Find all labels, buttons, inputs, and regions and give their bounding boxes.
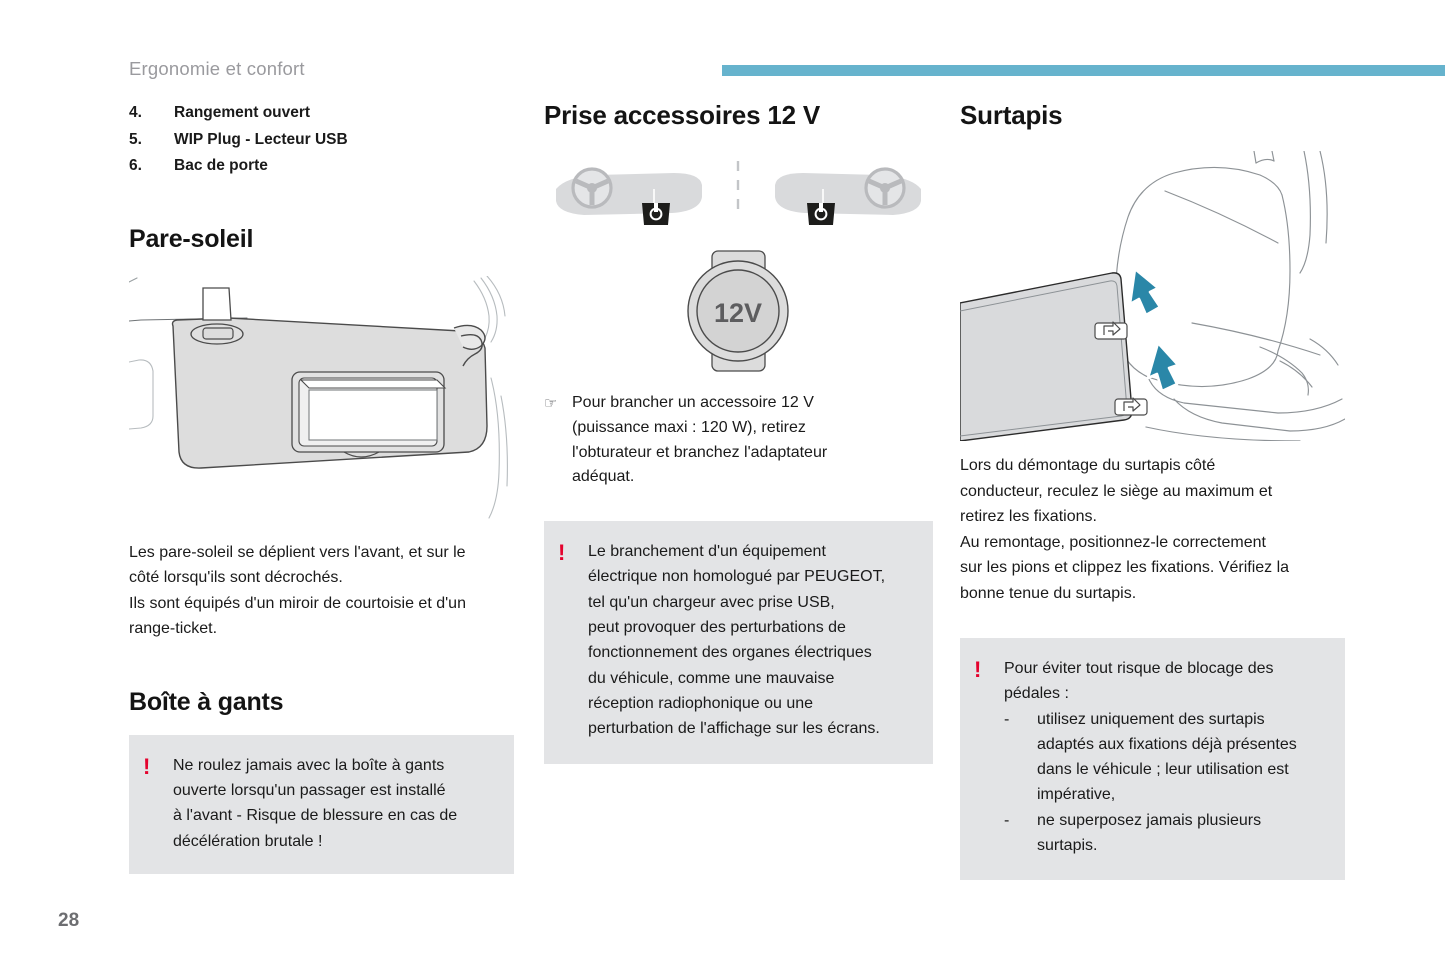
breadcrumb-chapter-title: Ergonomie et confort [129, 58, 305, 80]
warning-line: décélération brutale ! [173, 829, 457, 854]
sun-visor-body-text: Les pare-soleil se déplient vers l'avant… [129, 540, 514, 642]
warning-text: Pour éviter tout risque de blocage des p… [1004, 656, 1297, 858]
list-item: 6. Bac de porte [129, 153, 514, 180]
instruction-line: (puissance maxi : 120 W), retirez [572, 416, 827, 441]
body-line: conducteur, reculez le siège au maximum … [960, 479, 1345, 505]
mirror-glass [309, 390, 437, 440]
list-item-label: WIP Plug - Lecteur USB [174, 127, 348, 154]
section-title-pare-soleil: Pare-soleil [129, 225, 514, 254]
warning-line: Pour éviter tout risque de blocage des [1004, 656, 1297, 681]
list-item: 5. WIP Plug - Lecteur USB [129, 127, 514, 154]
dashboard-socket-svg: 12V [544, 159, 933, 375]
warning-exclamation-icon: ! [974, 656, 1004, 858]
list-item-label: Rangement ouvert [174, 100, 310, 127]
list-item-number: 5. [129, 127, 174, 154]
warning-box-electrical: ! Le branchement d'un équipement électri… [544, 521, 933, 763]
body-line: sur les pions et clippez les fixations. … [960, 555, 1345, 581]
warning-line: fonctionnement des organes électriques [588, 640, 885, 665]
direction-arrow-lower [1148, 343, 1178, 391]
body-line: bonne tenue du surtapis. [960, 581, 1345, 607]
warning-exclamation-icon: ! [143, 753, 173, 854]
page-header: Ergonomie et confort [0, 0, 1445, 92]
instruction-line: Pour brancher un accessoire 12 V [572, 391, 827, 416]
visor-clip-stalk [203, 288, 231, 320]
direction-arrow-upper [1130, 269, 1160, 315]
middle-column: Prise accessoires 12 V [544, 100, 933, 764]
warning-text: Ne roulez jamais avec la boîte à gants o… [173, 753, 457, 854]
body-line: Ils sont équipés d'un miroir de courtois… [129, 591, 514, 617]
right-column: Surtapis [960, 100, 1345, 880]
ticket-holder-lip [301, 380, 445, 388]
section-title-prise-accessoires: Prise accessoires 12 V [544, 100, 933, 131]
socket-label-12v: 12V [714, 298, 762, 328]
warning-line: Le branchement d'un équipement [588, 539, 885, 564]
list-item-number: 6. [129, 153, 174, 180]
warning-line: utilisez uniquement des surtapis [1037, 707, 1297, 732]
sun-visor-svg [129, 276, 514, 524]
socket-closeup: 12V [688, 251, 788, 371]
seat-mat-svg [960, 151, 1345, 441]
warning-line: dans le véhicule ; leur utilisation est [1037, 757, 1297, 782]
warning-exclamation-icon: ! [558, 539, 588, 741]
body-line: Au remontage, positionnez-le correctemen… [960, 530, 1345, 556]
warning-line: pédales : [1004, 681, 1297, 706]
instruction-text: Pour brancher un accessoire 12 V (puissa… [572, 391, 827, 490]
visor-pivot-plate [203, 328, 233, 339]
sun-visor-illustration [129, 276, 514, 524]
page-number: 28 [58, 910, 79, 932]
body-line: Lors du démontage du surtapis côté [960, 453, 1345, 479]
body-line: côté lorsqu'ils sont décrochés. [129, 565, 514, 591]
section-title-boite-a-gants: Boîte à gants [129, 688, 514, 717]
warning-line: réception radiophonique ou une [588, 691, 885, 716]
mat-fixation-clip-upper [1095, 322, 1127, 339]
bullet-dash: - [1004, 808, 1037, 859]
warning-line: Ne roulez jamais avec la boîte à gants [173, 753, 457, 778]
warning-line: adaptés aux fixations déjà présentes [1037, 732, 1297, 757]
mat-fixation-clip-lower [1115, 398, 1147, 415]
warning-line: impérative, [1037, 782, 1297, 807]
warning-line: ne superposez jamais plusieurs [1037, 808, 1261, 833]
list-item-number: 4. [129, 100, 174, 127]
floor-mat-surtapis [960, 273, 1132, 441]
warning-line: ouverte lorsqu'un passager est installé [173, 778, 457, 803]
pointing-hand-icon: ☞ [544, 391, 572, 490]
header-accent-rule [722, 65, 1445, 76]
warning-line: surtapis. [1037, 833, 1261, 858]
warning-line: du véhicule, comme une mauvaise [588, 666, 885, 691]
warning-line: tel qu'un chargeur avec prise USB, [588, 590, 885, 615]
bullet-dash: - [1004, 707, 1037, 808]
warning-line: perturbation de l'affichage sur les écra… [588, 716, 885, 741]
warning-box-glovebox: ! Ne roulez jamais avec la boîte à gants… [129, 735, 514, 874]
body-line: Les pare-soleil se déplient vers l'avant… [129, 540, 514, 566]
warning-text: Le branchement d'un équipement électriqu… [588, 539, 885, 741]
warning-line: électrique non homologué par PEUGEOT, [588, 564, 885, 589]
body-line: retirez les fixations. [960, 504, 1345, 530]
warning-line: peut provoquer des perturbations de [588, 615, 885, 640]
warning-sub-text: ne superposez jamais plusieurs surtapis. [1037, 808, 1261, 859]
section-title-surtapis: Surtapis [960, 100, 1345, 131]
surtapis-body-text: Lors du démontage du surtapis côté condu… [960, 453, 1345, 606]
instruction-line: l'obturateur et branchez l'adaptateur [572, 441, 827, 466]
warning-line: à l'avant - Risque de blessure en cas de [173, 803, 457, 828]
warning-box-pedal-blocking: ! Pour éviter tout risque de blocage des… [960, 638, 1345, 880]
seat-floor-mat-illustration [960, 151, 1345, 441]
instruction-bullet: ☞ Pour brancher un accessoire 12 V (puis… [544, 391, 933, 490]
dashboard-12v-socket-illustration: 12V [544, 159, 933, 375]
warning-sub-text: utilisez uniquement des surtapis adaptés… [1037, 707, 1297, 808]
instruction-line: adéquat. [572, 465, 827, 490]
warning-sub-item: - ne superposez jamais plusieurs surtapi… [1004, 808, 1297, 859]
left-column: 4. Rangement ouvert 5. WIP Plug - Lecteu… [129, 100, 514, 874]
warning-sub-list: - utilisez uniquement des surtapis adapt… [1004, 707, 1297, 859]
list-item-label: Bac de porte [174, 153, 268, 180]
list-item: 4. Rangement ouvert [129, 100, 514, 127]
dashboard-lhd [556, 169, 702, 225]
body-line: range-ticket. [129, 616, 514, 642]
warning-sub-item: - utilisez uniquement des surtapis adapt… [1004, 707, 1297, 808]
equipment-numbered-list: 4. Rangement ouvert 5. WIP Plug - Lecteu… [129, 100, 514, 180]
dashboard-rhd [775, 169, 921, 225]
